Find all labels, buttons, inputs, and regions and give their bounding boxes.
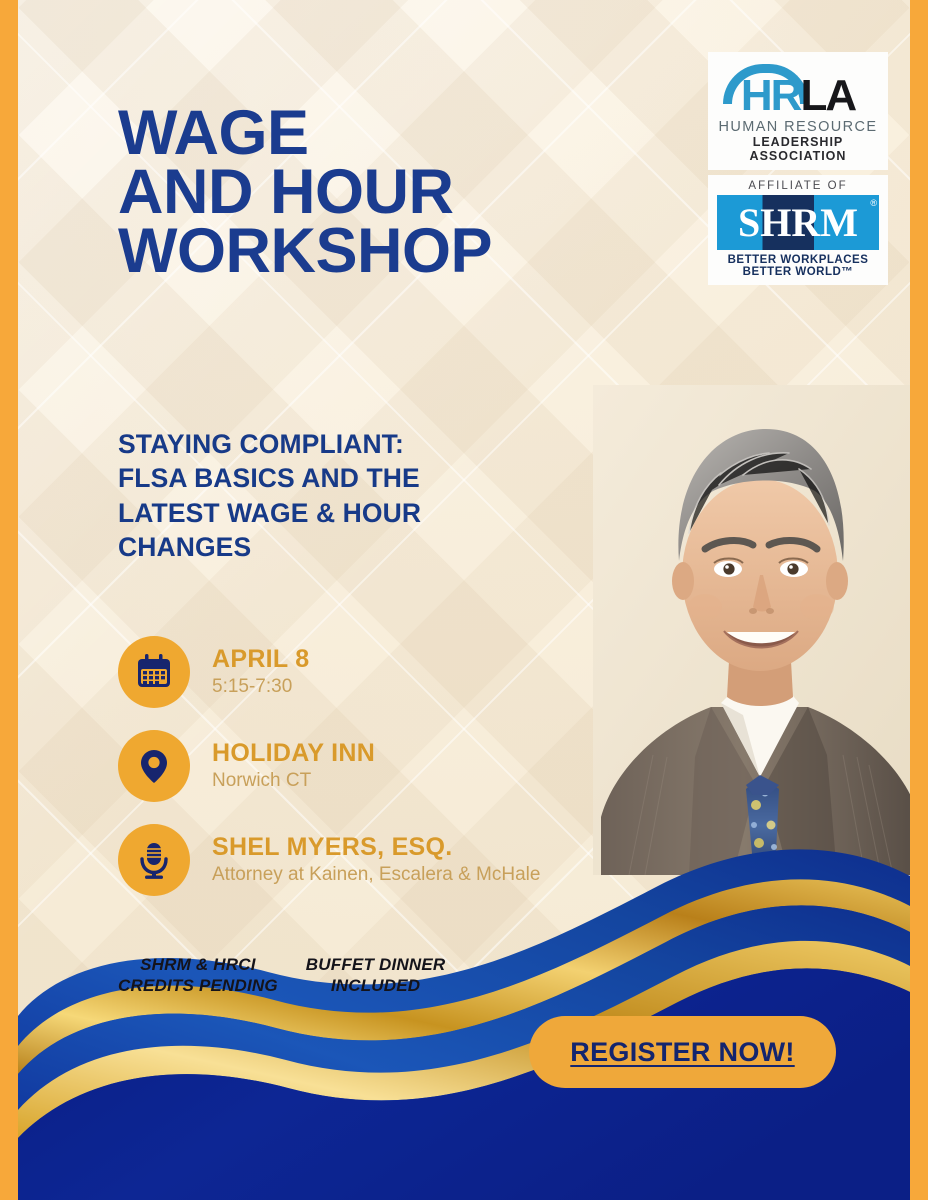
detail-row-venue: HOLIDAY INN Norwich CT xyxy=(118,730,598,802)
shrm-wordmark-bar: SHRM ® xyxy=(717,195,879,250)
detail-row-date: APRIL 8 5:15-7:30 xyxy=(118,636,598,708)
shrm-tagline-2: BETTER WORLD™ xyxy=(717,266,879,278)
hrla-tagline-1: HUMAN RESOURCE xyxy=(717,119,879,135)
title-line-2: AND HOUR xyxy=(118,163,492,222)
hrla-logo: HRLA HUMAN RESOURCE LEADERSHIP ASSOCIATI… xyxy=(708,52,888,170)
page-title: WAGE AND HOUR WORKSHOP xyxy=(118,104,492,282)
note-credits-line-2: CREDITS PENDING xyxy=(118,976,278,997)
detail-venue-heading: HOLIDAY INN xyxy=(212,740,375,768)
register-now-label: REGISTER NOW! xyxy=(570,1037,794,1068)
hrla-wordmark: HRLA xyxy=(717,60,879,118)
shrm-wordmark: SHRM xyxy=(738,203,858,243)
credit-notes: SHRM & HRCI CREDITS PENDING BUFFET DINNE… xyxy=(118,955,445,996)
shrm-tagline-1: BETTER WORKPLACES xyxy=(717,254,879,266)
subtitle-line-3: LATEST WAGE & HOUR xyxy=(118,496,538,530)
wave-decoration xyxy=(18,820,910,1200)
subtitle-line-1: STAYING COMPLIANT: xyxy=(118,427,538,461)
location-pin-icon xyxy=(118,730,190,802)
title-line-3: WORKSHOP xyxy=(118,222,492,281)
shrm-affiliate-label: AFFILIATE OF xyxy=(717,180,879,192)
speaker-photo xyxy=(593,385,910,875)
detail-date-heading: APRIL 8 xyxy=(212,646,310,674)
hrla-letters-hr: HR xyxy=(741,71,801,120)
logo-stack: HRLA HUMAN RESOURCE LEADERSHIP ASSOCIATI… xyxy=(708,52,888,285)
page-subtitle: STAYING COMPLIANT: FLSA BASICS AND THE L… xyxy=(118,427,538,565)
shrm-affiliate-logo: AFFILIATE OF SHRM ® BETTER WORKPLACES BE… xyxy=(708,175,888,285)
note-credits-line-1: SHRM & HRCI xyxy=(118,955,278,976)
hrla-tagline-2: LEADERSHIP ASSOCIATION xyxy=(717,135,879,163)
note-dinner-line-1: BUFFET DINNER xyxy=(306,955,446,976)
hrla-letters-la: LA xyxy=(800,71,855,120)
flyer-canvas: WAGE AND HOUR WORKSHOP STAYING COMPLIANT… xyxy=(18,0,910,1200)
title-line-1: WAGE xyxy=(118,104,492,163)
subtitle-line-4: CHANGES xyxy=(118,530,538,564)
register-now-button[interactable]: REGISTER NOW! xyxy=(529,1016,836,1088)
subtitle-line-2: FLSA BASICS AND THE xyxy=(118,461,538,495)
note-dinner-line-2: INCLUDED xyxy=(306,976,446,997)
detail-date-time: 5:15-7:30 xyxy=(212,676,310,698)
registered-mark-icon: ® xyxy=(870,198,877,208)
note-credits: SHRM & HRCI CREDITS PENDING xyxy=(118,955,278,996)
calendar-icon xyxy=(118,636,190,708)
event-flyer: WAGE AND HOUR WORKSHOP STAYING COMPLIANT… xyxy=(0,0,928,1200)
note-dinner: BUFFET DINNER INCLUDED xyxy=(306,955,446,996)
detail-venue-city: Norwich CT xyxy=(212,770,375,792)
